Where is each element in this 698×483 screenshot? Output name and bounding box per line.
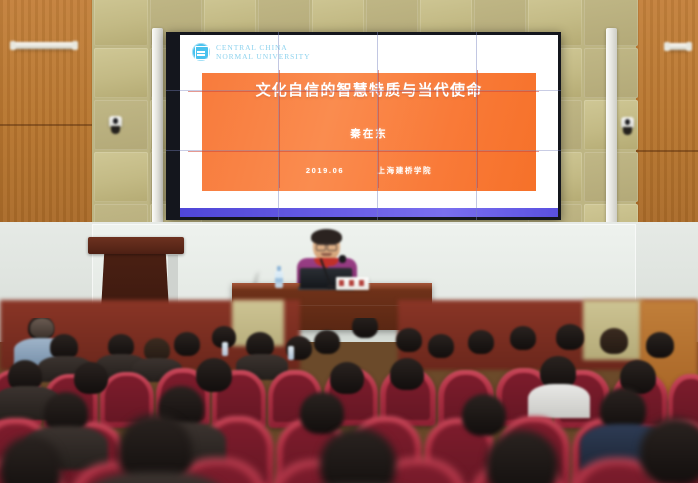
panel-seam xyxy=(188,91,539,92)
audience-shoulder xyxy=(528,384,590,418)
audience-head xyxy=(314,330,340,354)
panel-seam xyxy=(477,70,478,188)
panel-seam xyxy=(279,70,280,188)
slide-date: 2019.06 xyxy=(306,166,344,175)
university-name-line2: NORMAL UNIVERSITY xyxy=(216,52,310,61)
ceiling-camera-left xyxy=(108,116,123,135)
audience-head xyxy=(646,332,674,358)
panel-seam xyxy=(188,151,539,152)
slide-location: 上海建桥学院 xyxy=(378,166,433,175)
audience-head xyxy=(396,328,422,352)
university-name-line1: CENTRAL CHINA xyxy=(216,43,310,52)
water-bottle xyxy=(222,342,228,356)
wall-light-left xyxy=(12,42,76,49)
university-seal-icon xyxy=(192,43,210,61)
lecture-hall-photo: CENTRAL CHINA NORMAL UNIVERSITY 文化自信的智慧特… xyxy=(0,0,698,483)
slide-author: 秦在东 xyxy=(202,126,536,141)
panel-seam xyxy=(378,70,379,188)
university-name: CENTRAL CHINA NORMAL UNIVERSITY xyxy=(216,43,310,61)
audience-head xyxy=(196,358,232,392)
slide-bottom-bar xyxy=(180,208,558,217)
led-video-wall[interactable]: CENTRAL CHINA NORMAL UNIVERSITY 文化自信的智慧特… xyxy=(166,32,561,220)
audience-head xyxy=(640,418,698,483)
audience-head xyxy=(390,358,424,390)
audience-head xyxy=(556,324,584,350)
audience-head xyxy=(174,332,200,356)
water-bottle xyxy=(275,266,283,288)
audience-head xyxy=(74,362,108,394)
water-bottle xyxy=(288,346,294,360)
audience-head xyxy=(330,362,364,394)
audience-head xyxy=(600,328,628,354)
presentation-slide: CENTRAL CHINA NORMAL UNIVERSITY 文化自信的智慧特… xyxy=(180,35,558,217)
slide-footer: 2019.06 上海建桥学院 xyxy=(202,165,536,176)
glasses-icon xyxy=(316,243,337,249)
audience-head xyxy=(428,334,454,358)
wall-light-right xyxy=(666,43,690,50)
audience-head xyxy=(468,330,494,354)
university-branding: CENTRAL CHINA NORMAL UNIVERSITY xyxy=(192,43,310,61)
audience-head xyxy=(352,318,378,338)
videowall-stand-right xyxy=(606,28,617,228)
nameplate xyxy=(336,277,369,290)
audience-head xyxy=(300,392,344,434)
audience-area xyxy=(0,318,698,483)
ceiling-camera-right xyxy=(620,117,635,136)
audience-head xyxy=(462,394,506,436)
audience-head xyxy=(30,318,54,338)
audience-head xyxy=(510,326,536,350)
videowall-stand-left xyxy=(152,28,163,228)
